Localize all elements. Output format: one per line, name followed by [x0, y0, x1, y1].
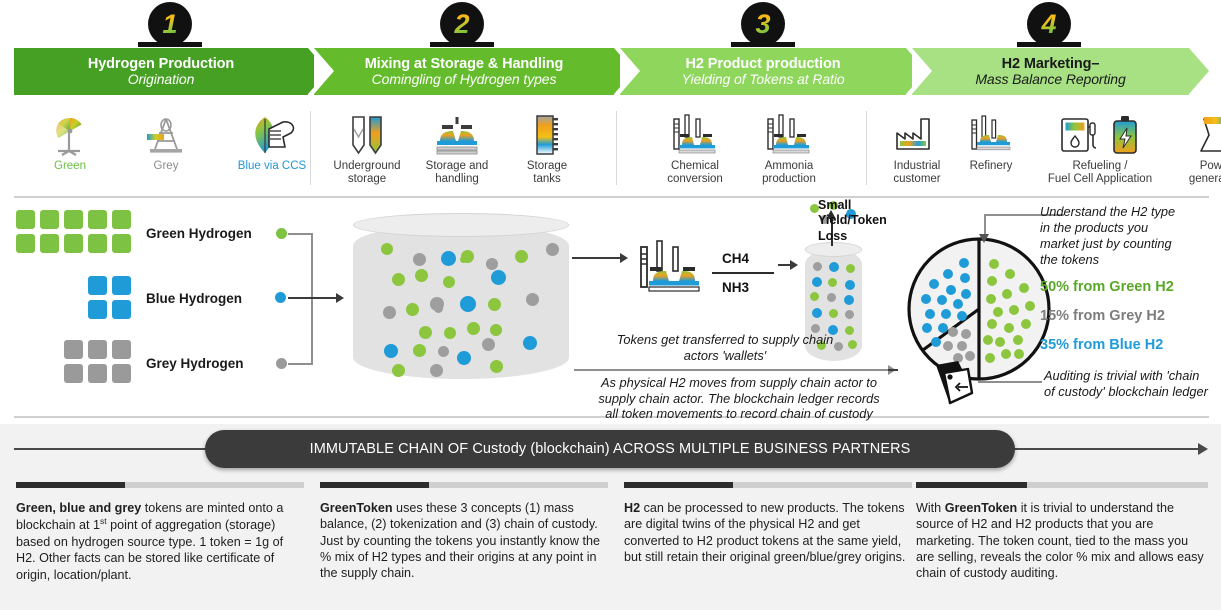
- column-bold-2: GreenToken: [320, 501, 393, 515]
- chem-divider: [712, 272, 774, 274]
- chain-banner-text: IMMUTABLE CHAIN OF Custody (blockchain) …: [310, 441, 911, 457]
- icon-divider-3: [866, 111, 867, 185]
- stage-number-3: 3: [755, 9, 770, 40]
- icon-cell-chemical-conversion: Chemicalconversion: [648, 103, 742, 195]
- to-pie-line: [888, 369, 898, 371]
- underground-storage-icon: [346, 111, 388, 157]
- column-text-4: With GreenToken it is trivial to underst…: [916, 500, 1208, 582]
- stage-banner-3: H2 Product production Yielding of Tokens…: [620, 48, 906, 95]
- stage-subtitle-2: Comingling of Hydrogen types: [372, 72, 557, 88]
- token-grey: [64, 364, 83, 383]
- token-blue: [112, 300, 131, 319]
- stage-number-badge-4: 4: [1027, 2, 1071, 46]
- audit-pointer-line: [978, 381, 1042, 383]
- caption-ledger: As physical H2 moves from supply chain a…: [574, 375, 904, 422]
- stage-banner-1: Hydrogen Production Origination: [14, 48, 308, 95]
- icon-caption-refinery: Refinery: [970, 160, 1013, 173]
- stage-title-4: H2 Marketing–: [1002, 56, 1100, 72]
- icon-cell-underground-storage: Undergroundstorage: [322, 103, 412, 195]
- conversion-plant-icon: [634, 236, 710, 303]
- stage-number-1: 1: [162, 9, 177, 40]
- icon-cell-storage-tanks: Storagetanks: [502, 103, 592, 195]
- legend-to-tank-line: [288, 297, 338, 299]
- diagram-top-rule: [14, 196, 1209, 198]
- refueling-fuelcell-icon: [1054, 111, 1146, 157]
- stage-banner-row: Hydrogen Production Origination Mixing a…: [0, 0, 1221, 103]
- column-rule-4: [916, 482, 1208, 488]
- token-grid-grey: [64, 340, 131, 383]
- token-green: [16, 210, 35, 229]
- stage-notch-3: [620, 48, 640, 94]
- column-rule-2: [320, 482, 608, 488]
- bottom-column-3: H2 can be processed to new products. The…: [624, 482, 912, 565]
- column-bold-4: GreenToken: [945, 501, 1018, 515]
- token-green: [112, 234, 131, 253]
- bottom-column-4: With GreenToken it is trivial to underst…: [916, 482, 1208, 582]
- chemical-conversion-icon: [666, 111, 724, 157]
- bottom-column-2: GreenToken uses these 3 concepts (1) mas…: [320, 482, 608, 582]
- token-blue: [88, 276, 107, 295]
- token-green: [40, 210, 59, 229]
- column-text-2: GreenToken uses these 3 concepts (1) mas…: [320, 500, 608, 582]
- ledger-arrow-line: [574, 369, 892, 371]
- icon-group-production: Green Grey: [22, 103, 330, 195]
- chain-rule-left: [14, 448, 210, 450]
- token-grid-green: [16, 210, 131, 253]
- small-yield-loss-text: SmallYield/TokenLoss: [818, 198, 887, 244]
- token-green: [64, 234, 83, 253]
- icon-caption-underground-storage: Undergroundstorage: [333, 160, 400, 186]
- icon-caption-power-generation: Powergeneration: [1189, 160, 1221, 186]
- legend-bracket-vert: [311, 233, 313, 365]
- icon-cell-industrial-customer: Industrialcustomer: [878, 103, 956, 195]
- legend-to-tank-arrow: [336, 293, 344, 303]
- icon-cell-green: Green: [22, 103, 118, 195]
- icon-cell-ammonia-production: Ammoniaproduction: [742, 103, 836, 195]
- stage-number-4: 4: [1041, 9, 1056, 40]
- stage-notch-4: [912, 48, 932, 94]
- column-rest-3: can be processed to new products. The to…: [624, 501, 905, 564]
- token-green: [112, 210, 131, 229]
- token-blue: [112, 276, 131, 295]
- icon-caption-green: Green: [54, 160, 86, 173]
- icon-cell-refueling: Refueling /Fuel Cell Application: [1026, 103, 1174, 195]
- stage-subtitle-3: Yielding of Tokens at Ratio: [681, 72, 844, 88]
- icon-strip: Green Grey: [0, 103, 1221, 195]
- icon-caption-refueling: Refueling /Fuel Cell Application: [1048, 160, 1152, 186]
- column-bold-1: Green, blue and grey: [16, 501, 141, 515]
- stage-title-2: Mixing at Storage & Handling: [365, 56, 564, 72]
- bottom-column-1: Green, blue and grey tokens are minted o…: [16, 482, 304, 583]
- icon-caption-grey: Grey: [154, 160, 179, 173]
- chem-label-ch4: CH4: [722, 251, 749, 266]
- icon-group-product: Chemicalconversion Am: [648, 103, 836, 195]
- flow-diagram: Green Hydrogen Blue Hydrogen Grey Hydrog…: [0, 196, 1221, 424]
- column-text-1: Green, blue and grey tokens are minted o…: [16, 500, 304, 583]
- industrial-customer-icon: [891, 111, 943, 157]
- wind-turbine-icon: [48, 111, 92, 157]
- stage-title-1: Hydrogen Production: [88, 56, 234, 72]
- token-grey: [112, 364, 131, 383]
- icon-caption-storage-tanks: Storagetanks: [527, 160, 567, 186]
- bottom-columns: Green, blue and grey tokens are minted o…: [0, 482, 1221, 610]
- token-grid-blue: [88, 276, 131, 319]
- chem-label-nh3: NH3: [722, 280, 749, 295]
- audit-tag-icon: [924, 359, 984, 412]
- icon-cell-refinery: Refinery: [956, 103, 1026, 195]
- tank-to-plant-line: [572, 257, 622, 259]
- infographic-root: Hydrogen Production Origination Mixing a…: [0, 0, 1221, 610]
- icon-cell-storage-handling: Storage andhandling: [412, 103, 502, 195]
- stage-number-2: 2: [454, 9, 469, 40]
- legend-label-grey: Grey Hydrogen: [146, 356, 244, 371]
- ccs-leaf-hand-icon: [243, 111, 301, 157]
- column-rule-3: [624, 482, 912, 488]
- icon-group-marketing: Industrialcustomer Refinery: [878, 103, 1221, 195]
- icon-caption-ammonia-production: Ammoniaproduction: [762, 160, 816, 186]
- mix-grey: 15% from Grey H2: [1040, 308, 1165, 324]
- chain-rule-arrow: [1198, 443, 1208, 455]
- stage-notch-2: [314, 48, 334, 94]
- token-grey: [88, 340, 107, 359]
- token-blue: [88, 300, 107, 319]
- legend-label-blue: Blue Hydrogen: [146, 291, 242, 306]
- column-text-3: H2 can be processed to new products. The…: [624, 500, 912, 565]
- legend-bracket-bottom: [288, 363, 312, 365]
- token-green: [40, 234, 59, 253]
- icon-caption-storage-handling: Storage andhandling: [426, 160, 489, 186]
- stage-chevron-4: [1189, 48, 1209, 94]
- token-green: [88, 234, 107, 253]
- pie-top-pointer-stem: [984, 214, 986, 236]
- mixing-tank-top: [353, 213, 569, 237]
- oil-rig-icon: [141, 111, 191, 157]
- chain-banner-pill: IMMUTABLE CHAIN OF Custody (blockchain) …: [205, 430, 1015, 468]
- stage-number-badge-1: 1: [148, 2, 192, 46]
- icon-caption-industrial-customer: Industrialcustomer: [893, 160, 940, 186]
- power-generation-icon: [1192, 111, 1221, 157]
- token-grey: [112, 340, 131, 359]
- icon-divider-2: [616, 111, 617, 185]
- stage-banner-2: Mixing at Storage & Handling Comingling …: [314, 48, 614, 95]
- icon-cell-grey: Grey: [118, 103, 214, 195]
- storage-handling-icon: [432, 111, 482, 157]
- mix-blue: 35% from Blue H2: [1040, 337, 1163, 353]
- caption-wallets: Tokens get transferred to supply chainac…: [580, 332, 870, 363]
- column-bold-3: H2: [624, 501, 640, 515]
- mix-green: 50% from Green H2: [1040, 279, 1174, 295]
- note-auditing: Auditing is trivial with 'chainof custod…: [1044, 368, 1221, 400]
- icon-caption-blue-ccs: Blue via CCS: [238, 160, 306, 173]
- ammonia-production-icon: [760, 111, 818, 157]
- icon-cell-power-generation: Powergeneration: [1174, 103, 1221, 195]
- product-tank-top: [805, 242, 862, 257]
- icon-group-storage: Undergroundstorage: [322, 103, 592, 195]
- legend-dot-blue: [275, 292, 286, 303]
- icon-caption-chemical-conversion: Chemicalconversion: [667, 160, 723, 186]
- legend-label-green: Green Hydrogen: [146, 226, 252, 241]
- token-green: [16, 234, 35, 253]
- token-grey: [64, 340, 83, 359]
- column-pre-4: With: [916, 501, 945, 515]
- tank-to-plant-arrow: [620, 253, 628, 263]
- column-sup-1: st: [100, 516, 107, 526]
- storage-tanks-icon: [528, 111, 566, 157]
- token-green: [64, 210, 83, 229]
- stage-subtitle-1: Origination: [128, 72, 195, 88]
- pie-top-pointer-arrow: [979, 234, 989, 243]
- legend-bracket-top: [288, 233, 312, 235]
- stage-subtitle-4: Mass Balance Reporting: [975, 72, 1125, 88]
- note-understand: Understand the H2 typein the products yo…: [1040, 204, 1220, 268]
- token-grey: [88, 364, 107, 383]
- stage-title-3: H2 Product production: [686, 56, 841, 72]
- stage-number-badge-2: 2: [440, 2, 484, 46]
- column-rule-1: [16, 482, 304, 488]
- refinery-icon: [965, 111, 1017, 157]
- token-green: [88, 210, 107, 229]
- legend-dot-green: [276, 228, 287, 239]
- icon-cell-blue-ccs: Blue via CCS: [214, 103, 330, 195]
- plant-to-product-arrow: [790, 260, 798, 270]
- stage-banner-4: H2 Marketing– Mass Balance Reporting: [912, 48, 1189, 95]
- legend-dot-grey: [276, 358, 287, 369]
- chain-banner-row: IMMUTABLE CHAIN OF Custody (blockchain) …: [0, 424, 1221, 482]
- stage-number-badge-3: 3: [741, 2, 785, 46]
- chain-rule-right: [1010, 448, 1200, 450]
